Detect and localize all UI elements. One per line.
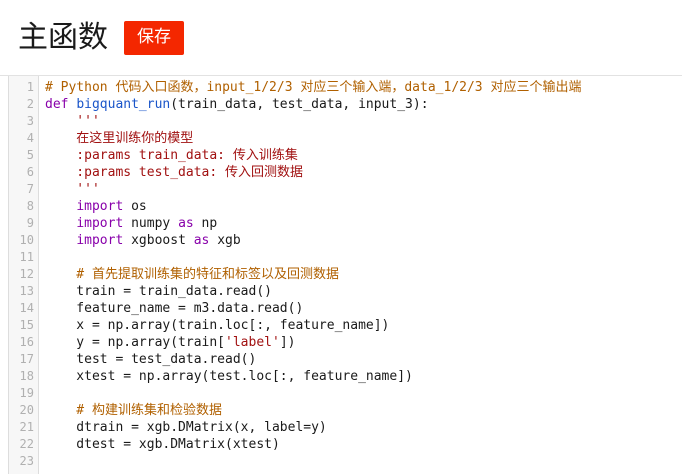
code-line[interactable]: # 首先提取训练集的特征和标签以及回测数据	[45, 266, 682, 283]
line-number: 6	[9, 164, 38, 181]
code-line[interactable]: :params test_data: 传入回测数据	[45, 164, 682, 181]
code-token-func: bigquant_run	[76, 97, 170, 112]
line-number: 7	[9, 181, 38, 198]
code-token-keyword: import	[76, 233, 123, 248]
code-token-keyword: import	[76, 216, 123, 231]
code-line[interactable]	[45, 385, 682, 402]
code-line[interactable]: :params train_data: 传入训练集	[45, 147, 682, 164]
line-number: 23	[9, 453, 38, 470]
code-token-keyword: import	[76, 199, 123, 214]
code-line[interactable]: '''	[45, 113, 682, 130]
code-token-doc: '''	[45, 114, 100, 129]
code-token-doc: :params test_data: 传入回测数据	[45, 165, 303, 180]
line-number: 10	[9, 232, 38, 249]
save-button[interactable]: 保存	[124, 21, 184, 55]
line-number: 14	[9, 300, 38, 317]
code-token-plain	[45, 199, 76, 214]
code-line[interactable]: feature_name = m3.data.read()	[45, 300, 682, 317]
code-line[interactable]: dtrain = xgb.DMatrix(x, label=y)	[45, 419, 682, 436]
code-token-keyword: def	[45, 97, 68, 112]
line-number: 4	[9, 130, 38, 147]
line-number: 17	[9, 351, 38, 368]
code-token-plain: numpy	[123, 216, 178, 231]
code-editor[interactable]: 1234567891011121314151617181920212223 # …	[0, 76, 682, 474]
code-token-doc: 在这里训练你的模型	[45, 131, 193, 146]
code-token-keyword: as	[194, 233, 210, 248]
code-line[interactable]: 在这里训练你的模型	[45, 130, 682, 147]
code-token-keyword: as	[178, 216, 194, 231]
line-number-gutter: 1234567891011121314151617181920212223	[9, 76, 39, 474]
line-number: 9	[9, 215, 38, 232]
page-title: 主函数	[18, 23, 108, 53]
line-number: 1	[9, 79, 38, 96]
code-line[interactable]: # Python 代码入口函数，input_1/2/3 对应三个输入端，data…	[45, 79, 682, 96]
code-token-comment: # Python 代码入口函数，input_1/2/3 对应三个输入端，data…	[45, 80, 581, 95]
line-number: 20	[9, 402, 38, 419]
line-number: 15	[9, 317, 38, 334]
code-line[interactable]: dtest = xgb.DMatrix(xtest)	[45, 436, 682, 453]
editor-left-rail	[0, 76, 9, 474]
code-token-plain: feature_name = m3.data.read()	[45, 301, 303, 316]
line-number: 13	[9, 283, 38, 300]
code-line[interactable]: # 构建训练集和检验数据	[45, 402, 682, 419]
code-token-plain: test = test_data.read()	[45, 352, 256, 367]
line-number: 8	[9, 198, 38, 215]
code-token-plain: dtest = xgb.DMatrix(xtest)	[45, 437, 280, 452]
line-number: 2	[9, 96, 38, 113]
code-token-plain: x = np.array(train.loc[:, feature_name])	[45, 318, 389, 333]
line-number: 16	[9, 334, 38, 351]
code-content[interactable]: # Python 代码入口函数，input_1/2/3 对应三个输入端，data…	[39, 76, 682, 474]
code-token-plain: xtest = np.array(test.loc[:, feature_nam…	[45, 369, 413, 384]
code-line[interactable]	[45, 249, 682, 266]
code-line[interactable]: '''	[45, 181, 682, 198]
line-number: 21	[9, 419, 38, 436]
line-number: 5	[9, 147, 38, 164]
code-token-plain: np	[194, 216, 217, 231]
code-token-plain: ])	[280, 335, 296, 350]
code-line[interactable]: train = train_data.read()	[45, 283, 682, 300]
line-number: 11	[9, 249, 38, 266]
code-token-doc: '''	[45, 182, 100, 197]
code-token-plain: xgb	[209, 233, 240, 248]
line-number: 18	[9, 368, 38, 385]
line-number: 3	[9, 113, 38, 130]
code-token-comment: # 构建训练集和检验数据	[45, 403, 222, 418]
code-line[interactable]: xtest = np.array(test.loc[:, feature_nam…	[45, 368, 682, 385]
code-line[interactable]: y = np.array(train['label'])	[45, 334, 682, 351]
code-token-comment: # 首先提取训练集的特征和标签以及回测数据	[45, 267, 339, 282]
line-number: 19	[9, 385, 38, 402]
code-token-plain: train = train_data.read()	[45, 284, 272, 299]
code-token-plain: (train_data, test_data, input_3):	[170, 97, 428, 112]
code-token-plain: dtrain = xgb.DMatrix(x, label=y)	[45, 420, 327, 435]
code-line[interactable]: import os	[45, 198, 682, 215]
line-number: 22	[9, 436, 38, 453]
code-token-plain	[45, 233, 76, 248]
code-token-doc: :params train_data: 传入训练集	[45, 148, 298, 163]
code-line[interactable]: x = np.array(train.loc[:, feature_name])	[45, 317, 682, 334]
page-header: 主函数 保存	[0, 0, 682, 76]
code-line[interactable]: import xgboost as xgb	[45, 232, 682, 249]
line-number: 12	[9, 266, 38, 283]
code-line[interactable]: def bigquant_run(train_data, test_data, …	[45, 96, 682, 113]
code-token-plain	[45, 216, 76, 231]
code-line[interactable]: import numpy as np	[45, 215, 682, 232]
code-token-plain: y = np.array(train[	[45, 335, 225, 350]
code-line[interactable]	[45, 453, 682, 470]
code-line[interactable]: test = test_data.read()	[45, 351, 682, 368]
code-token-plain: os	[123, 199, 146, 214]
code-token-plain: xgboost	[123, 233, 193, 248]
code-token-string: 'label'	[225, 335, 280, 350]
